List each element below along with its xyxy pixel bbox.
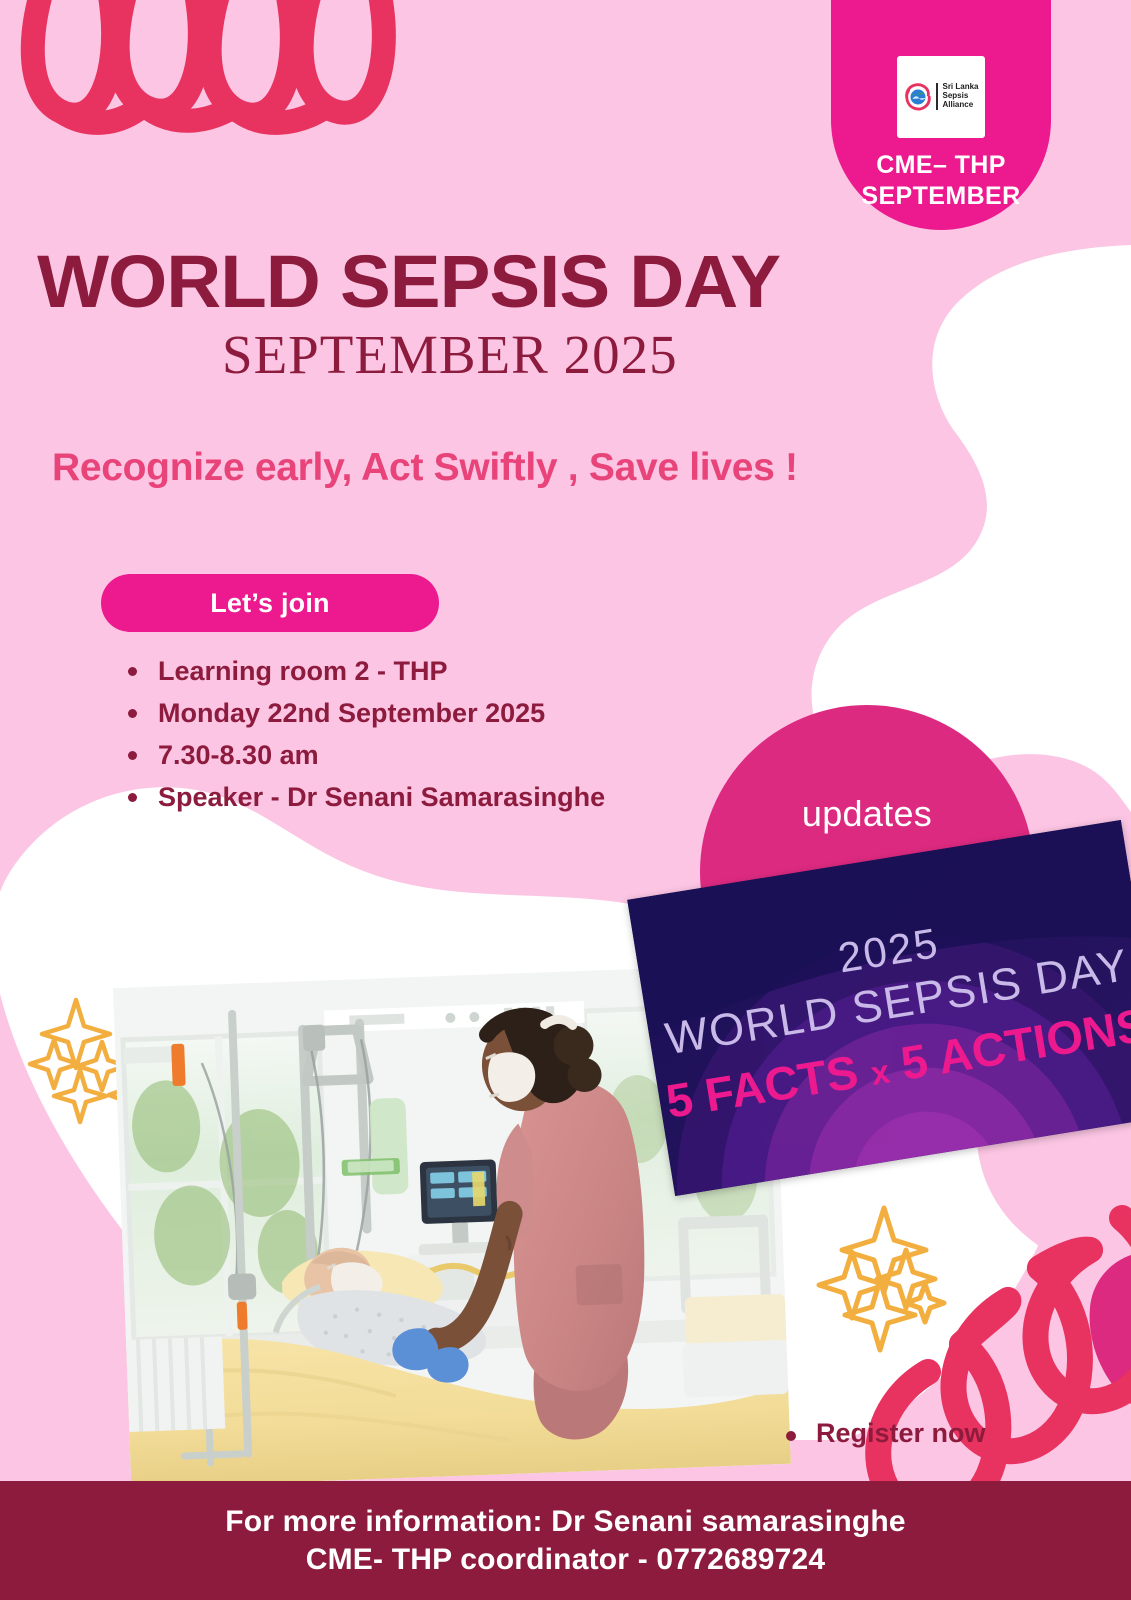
cme-thp-badge: Sri Lanka Sepsis Alliance CME– THP SEPTE…: [831, 0, 1051, 230]
footer-line-2: CME- THP coordinator - 0772689724: [306, 1543, 826, 1577]
badge-line-2: SEPTEMBER: [861, 181, 1020, 212]
list-item: Speaker - Dr Senani Samarasinghe: [124, 776, 605, 818]
event-details-list: Learning room 2 - THP Monday 22nd Septem…: [124, 650, 605, 818]
register-now-label: Register now: [816, 1418, 986, 1448]
register-now-item[interactable]: Register now: [786, 1418, 986, 1449]
list-item: 7.30-8.30 am: [124, 734, 605, 776]
badge-line-1: CME– THP: [876, 150, 1006, 181]
logo-line-3: Alliance: [942, 101, 978, 110]
lets-join-label: Let’s join: [210, 588, 330, 619]
page-subtitle: SEPTEMBER 2025: [0, 323, 900, 386]
list-item: Learning room 2 - THP: [124, 650, 605, 692]
page-title: WORLD SEPSIS DAY: [0, 246, 927, 319]
headline-block: WORLD SEPSIS DAY SEPTEMBER 2025: [0, 246, 900, 386]
updates-label: updates: [802, 793, 932, 835]
footer-line-1: For more information: Dr Senani samarasi…: [225, 1505, 906, 1539]
sri-lanka-sepsis-alliance-logo: Sri Lanka Sepsis Alliance: [897, 56, 985, 138]
list-item: Monday 22nd September 2025: [124, 692, 605, 734]
logo-wordmark: Sri Lanka Sepsis Alliance: [936, 83, 978, 110]
tagline: Recognize early, Act Swiftly , Save live…: [52, 446, 798, 490]
poster-canvas: Sri Lanka Sepsis Alliance CME– THP SEPTE…: [0, 0, 1131, 1600]
footer-contact-bar: For more information: Dr Senani samarasi…: [0, 1481, 1131, 1600]
lets-join-button[interactable]: Let’s join: [101, 574, 439, 632]
banner-facts-x: x: [868, 1052, 892, 1091]
globe-icon: [903, 82, 933, 112]
